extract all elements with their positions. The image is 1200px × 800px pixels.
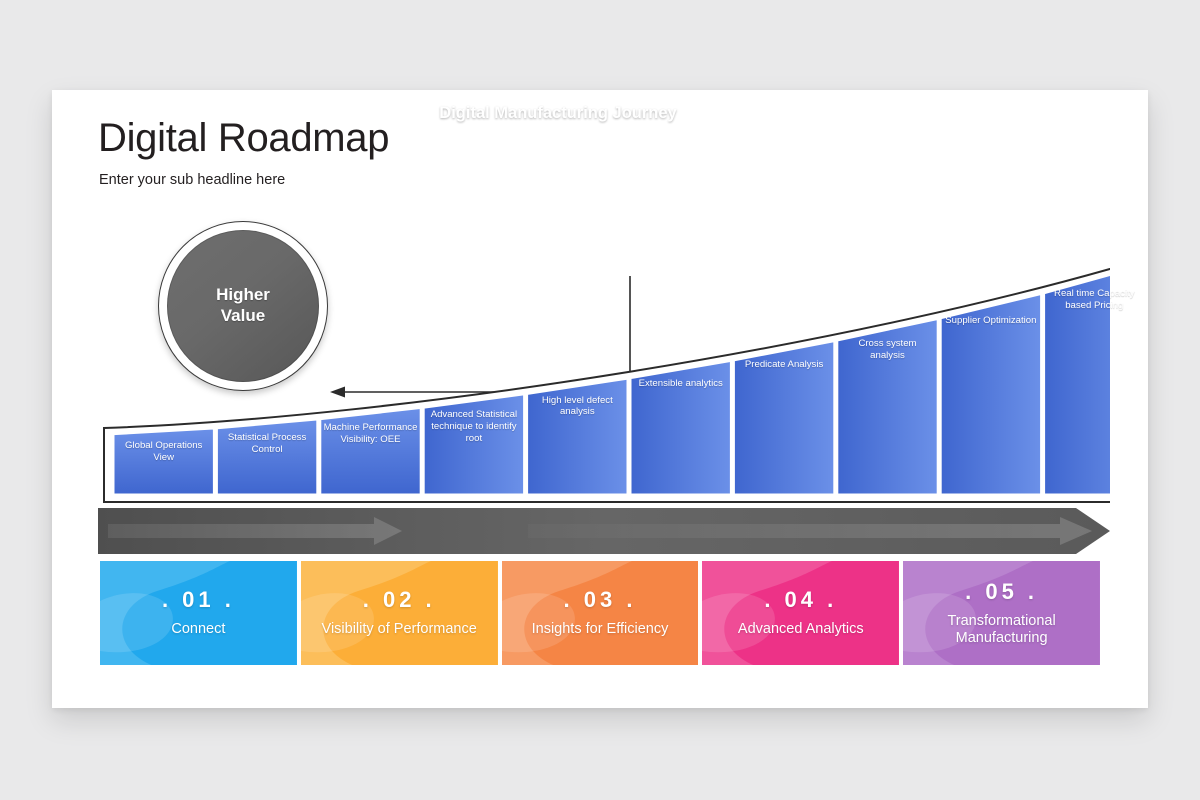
ramp-bar[interactable] bbox=[734, 342, 833, 494]
card-number: . 05 . bbox=[965, 579, 1038, 605]
stage-card[interactable]: . 03 .Insights for Efficiency bbox=[502, 561, 699, 665]
ramp-bar[interactable] bbox=[424, 395, 523, 494]
ramp-bar[interactable] bbox=[528, 379, 627, 494]
card-text: Transformational Manufacturing bbox=[903, 613, 1100, 648]
journey-arrow-bar bbox=[98, 508, 1110, 554]
card-number: . 01 . bbox=[162, 587, 235, 613]
ramp-bar[interactable] bbox=[838, 320, 937, 494]
page-subtitle: Enter your sub headline here bbox=[99, 172, 285, 188]
card-number: . 03 . bbox=[564, 587, 637, 613]
ramp-bar[interactable] bbox=[114, 429, 213, 494]
card-number: . 02 . bbox=[363, 587, 436, 613]
stage-card-list: . 01 .Connect. 02 .Visibility of Perform… bbox=[100, 561, 1100, 665]
stage-card[interactable]: . 02 .Visibility of Performance bbox=[301, 561, 498, 665]
ramp-bar[interactable] bbox=[321, 409, 420, 494]
ramp-chart bbox=[98, 250, 1110, 510]
ramp-bar[interactable] bbox=[631, 362, 730, 494]
stage-card[interactable]: . 04 .Advanced Analytics bbox=[702, 561, 899, 665]
card-text: Connect bbox=[165, 621, 231, 638]
ramp-bar[interactable] bbox=[941, 295, 1040, 494]
stage-card[interactable]: . 05 .Transformational Manufacturing bbox=[903, 561, 1100, 665]
ramp-bar[interactable] bbox=[1045, 266, 1110, 494]
slide-canvas: Digital Roadmap Enter your sub headline … bbox=[52, 90, 1148, 708]
ramp-bar[interactable] bbox=[217, 420, 316, 494]
page-title: Digital Roadmap bbox=[98, 116, 389, 161]
card-number: . 04 . bbox=[764, 587, 837, 613]
card-text: Visibility of Performance bbox=[316, 621, 483, 638]
stage-card[interactable]: . 01 .Connect bbox=[100, 561, 297, 665]
card-text: Advanced Analytics bbox=[732, 621, 870, 638]
card-text: Insights for Efficiency bbox=[526, 621, 675, 638]
